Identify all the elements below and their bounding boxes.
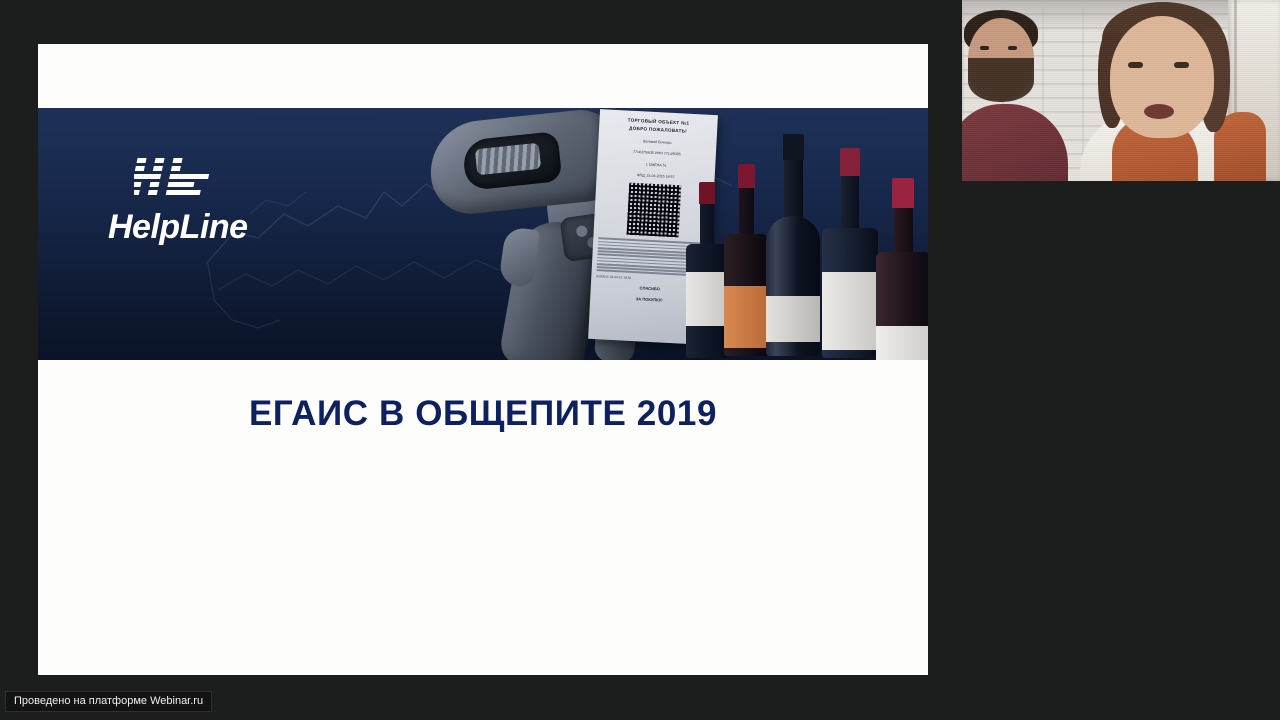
presenter-left-beard: [968, 58, 1034, 102]
receipt-qr-code: [627, 183, 682, 238]
wine-bottle: [724, 164, 768, 360]
wine-bottle: [686, 182, 728, 360]
wine-bottle: [822, 148, 878, 360]
receipt-code-left: 0000015 24-04-15 18:56: [596, 274, 631, 280]
presentation-slide[interactable]: HelpLine ТОРГОВЫЙ ОБЪЕКТ №1 ДОБРО ПОЖАЛО…: [38, 44, 928, 675]
slide-top-white-band: [38, 44, 928, 108]
presenter-right-eye: [1174, 62, 1189, 68]
presenter-left-eye: [1008, 46, 1017, 50]
presenter-right-head: [1110, 16, 1214, 138]
presenter-right-eye: [1128, 62, 1143, 68]
receipt-sub-line1: Великий Бочкарь: [603, 136, 711, 148]
webcam-video-feed[interactable]: [962, 0, 1280, 181]
presenter-left-eye: [980, 46, 989, 50]
platform-watermark: Проведено на платформе Webinar.ru: [5, 691, 212, 712]
wine-bottles-image: [700, 108, 928, 360]
wine-bottle: [766, 134, 820, 360]
hl-monogram-icon: [134, 156, 230, 202]
receipt-sub-line3: 1 СМЕНА 51: [602, 159, 710, 171]
wine-bottle: [876, 178, 928, 360]
page-title: ЕГАИС В ОБЩЕПИТЕ 2019: [38, 394, 928, 434]
slide-title-area: ЕГАИС В ОБЩЕПИТЕ 2019: [38, 360, 928, 434]
receipt-sub-line4: ФПД: 24.04.2015 18:57: [602, 170, 710, 182]
slide-hero-banner: HelpLine ТОРГОВЫЙ ОБЪЕКТ №1 ДОБРО ПОЖАЛО…: [38, 108, 928, 360]
receipt-sub-line2: 77/4/375/635 ИНН 7714/8385: [603, 147, 711, 159]
helpline-wordmark: HelpLine: [108, 208, 308, 247]
presenter-right-mouth: [1144, 104, 1174, 119]
helpline-logo: HelpLine: [108, 156, 308, 247]
